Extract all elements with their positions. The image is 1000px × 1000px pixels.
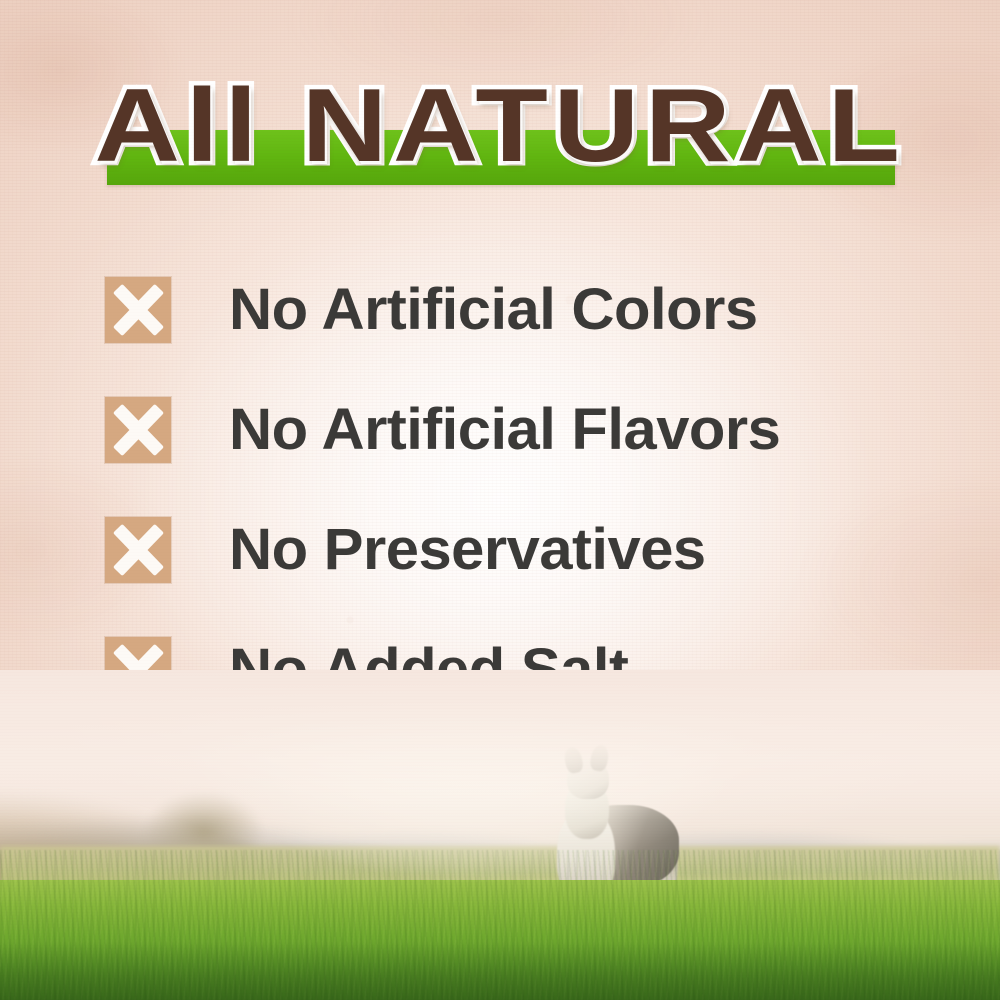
feature-label: No Artificial Colors — [229, 280, 758, 340]
list-item: No Artificial Flavors — [0, 370, 1000, 490]
list-item: No Preservatives — [0, 490, 1000, 610]
dog-ear — [562, 746, 584, 775]
feature-label: No Preservatives — [229, 520, 706, 580]
landscape-photo — [0, 670, 1000, 1000]
feature-list: No Artificial Colors No Artificial Flavo… — [0, 250, 1000, 730]
dog-ear — [589, 744, 610, 773]
feature-label: No Artificial Flavors — [229, 400, 780, 460]
x-mark-icon — [105, 517, 171, 583]
x-mark-icon — [105, 277, 171, 343]
list-item: No Artificial Colors — [0, 250, 1000, 370]
foreground-shadow — [0, 942, 1000, 1000]
title-banner: All NATURAL — [0, 72, 1000, 192]
page-title: All NATURAL — [0, 72, 1000, 180]
all-natural-product-poster: All NATURAL No Artificial Colors No Arti… — [0, 0, 1000, 1000]
x-mark-icon — [105, 397, 171, 463]
